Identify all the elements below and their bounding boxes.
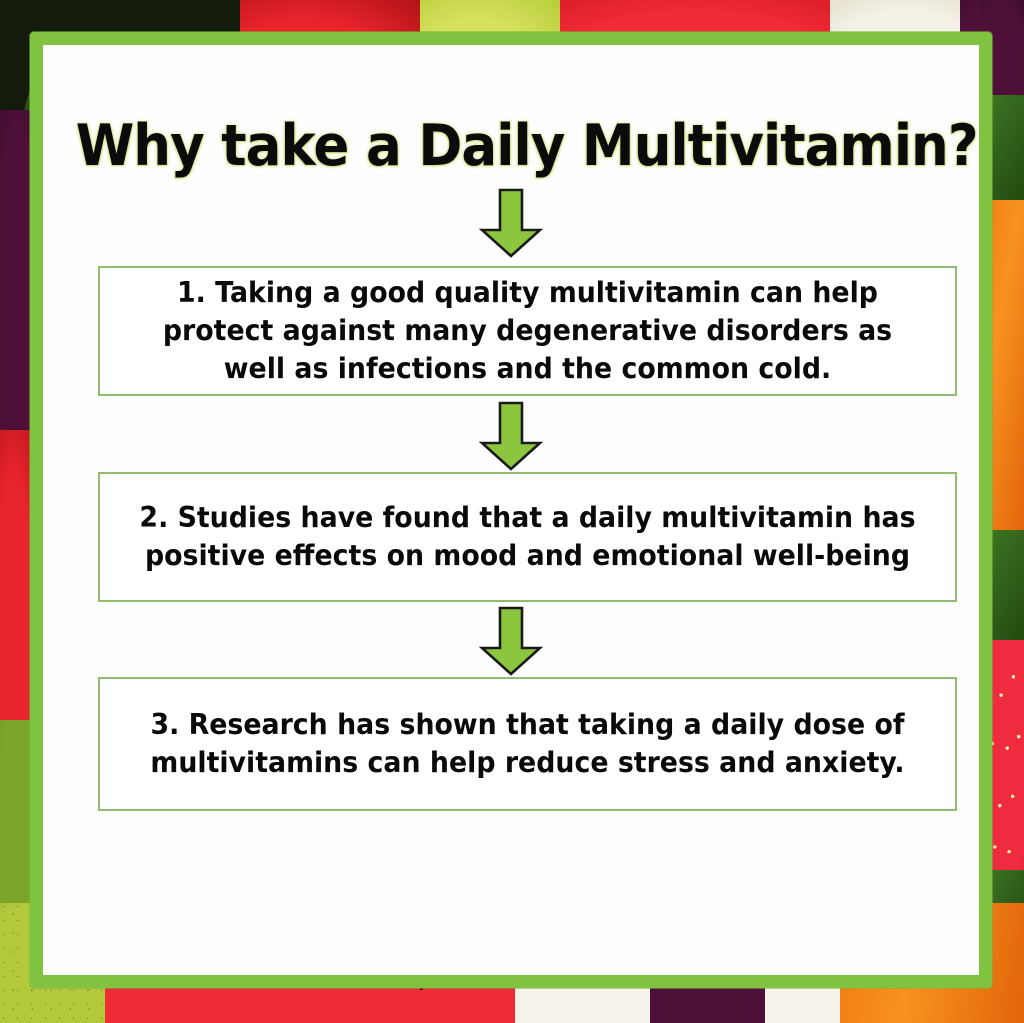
poster-canvas: Why take a Daily Multivitamin? 1. Taking…	[0, 0, 1024, 1023]
statement-box-2: 2. Studies have found that a daily multi…	[98, 472, 957, 602]
statement-text-1: 1. Taking a good quality multivitamin ca…	[139, 274, 916, 388]
poster-white-panel: Why take a Daily Multivitamin? 1. Taking…	[43, 45, 979, 975]
statement-text-2: 2. Studies have found that a daily multi…	[139, 499, 916, 575]
poster-green-frame: Why take a Daily Multivitamin? 1. Taking…	[30, 32, 992, 988]
page-title: Why take a Daily Multivitamin?	[76, 117, 946, 175]
arrow-down-icon-2	[479, 401, 543, 471]
statement-text-3: 3. Research has shown that taking a dail…	[139, 706, 916, 782]
statement-box-1: 1. Taking a good quality multivitamin ca…	[98, 266, 957, 396]
statement-box-3: 3. Research has shown that taking a dail…	[98, 677, 957, 811]
arrow-down-icon-3	[479, 606, 543, 676]
arrow-down-icon-1	[479, 188, 543, 258]
